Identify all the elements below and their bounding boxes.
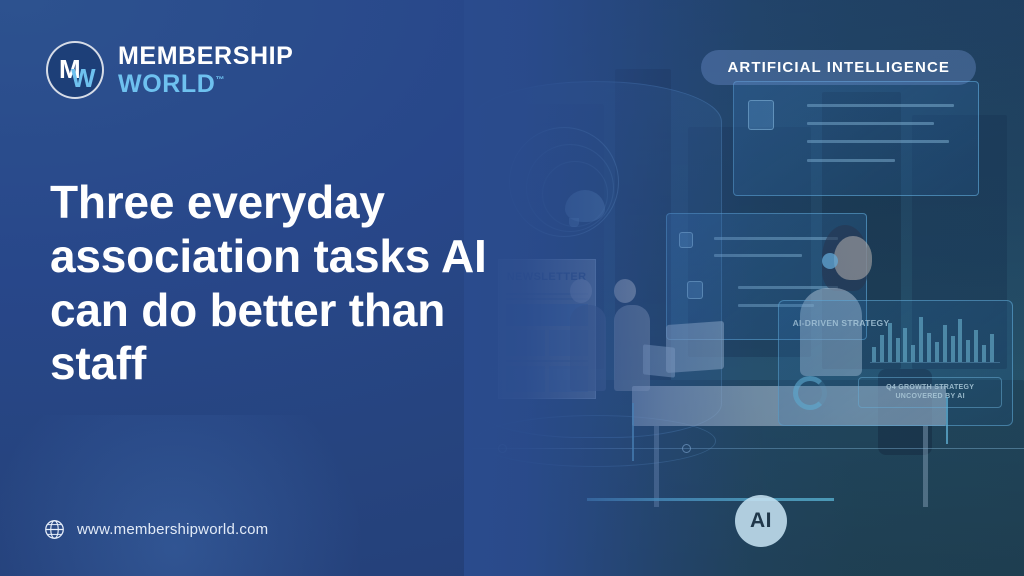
category-badge[interactable]: ARTIFICIAL INTELLIGENCE xyxy=(701,50,976,85)
website-url[interactable]: www.membershipworld.com xyxy=(77,521,268,538)
brand-name-word: WORLD xyxy=(118,70,215,98)
logo-letter-w: W xyxy=(71,65,96,91)
page-title: Three everyday association tasks AI can … xyxy=(50,176,520,391)
scene-left-fade xyxy=(464,0,1024,576)
trademark-symbol: ™ xyxy=(215,74,224,84)
brand-name-line1: MEMBERSHIP xyxy=(118,44,293,69)
globe-icon xyxy=(44,519,65,540)
brand-name-line2: WORLD™ xyxy=(118,72,293,97)
brand-logo[interactable]: M W MEMBERSHIP WORLD™ xyxy=(46,41,293,99)
poster-canvas: NEWSLETTER xyxy=(0,0,1024,576)
background-glow xyxy=(0,415,410,576)
ai-badge: AI xyxy=(735,495,787,547)
footer: www.membershipworld.com xyxy=(44,519,268,540)
ai-scene-image: NEWSLETTER xyxy=(464,0,1024,576)
brand-wordmark: MEMBERSHIP WORLD™ xyxy=(118,44,293,97)
logo-mark-icon: M W xyxy=(46,41,104,99)
